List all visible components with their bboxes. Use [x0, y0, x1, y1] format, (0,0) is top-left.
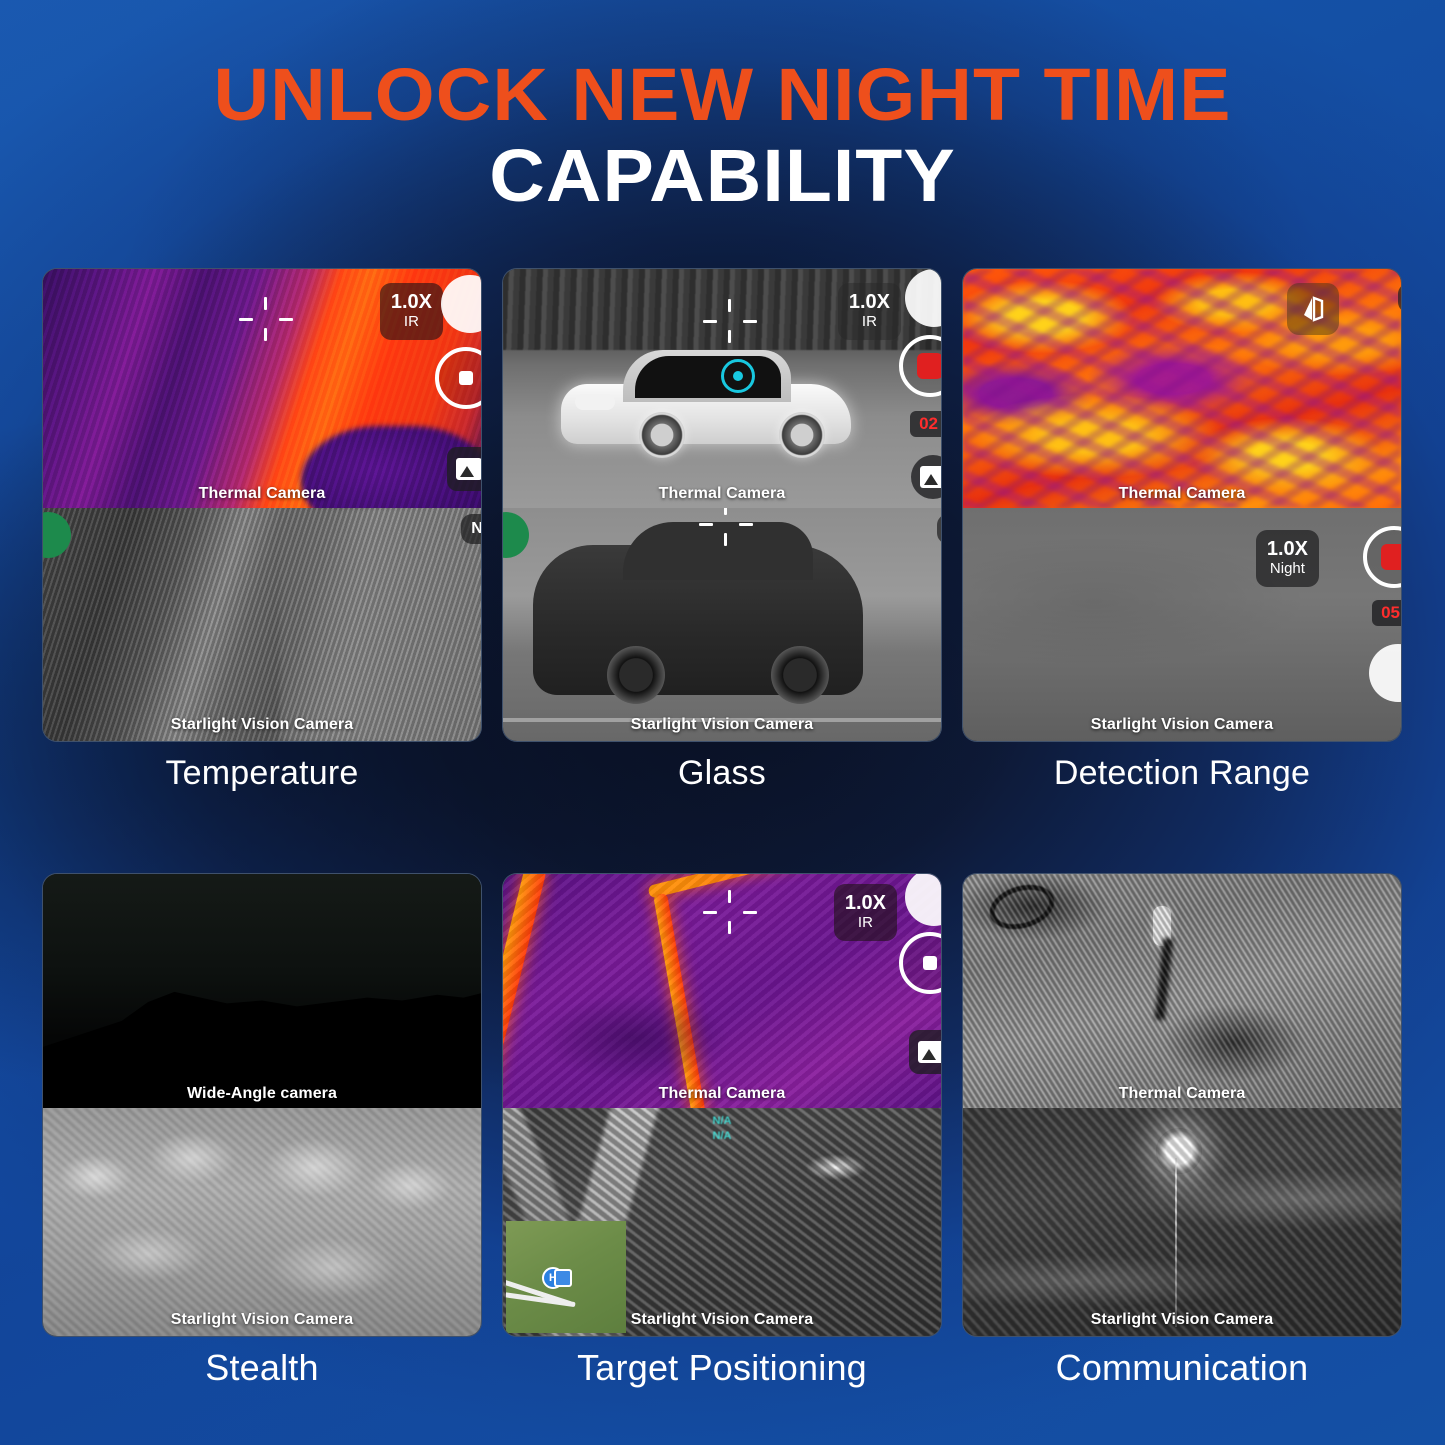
panel-label-starlight: Starlight Vision Camera [503, 716, 941, 734]
recording-timer: 05 [1372, 600, 1401, 626]
card-communication[interactable]: Thermal Camera Starlight Vision Camera [962, 873, 1402, 1337]
minimap[interactable]: H [506, 1221, 626, 1333]
map-marker-icon[interactable] [554, 1269, 572, 1287]
night-badge-label: Nig [471, 520, 481, 538]
headline-line-1: UNLOCK NEW NIGHT TIME [0, 58, 1445, 131]
panel-label-thermal: Thermal Camera [963, 485, 1401, 503]
card-target-positioning[interactable]: 1.0X IR Thermal Camera N/A N/A [502, 873, 942, 1337]
feature-grid: 1.0X IR Thermal Camera Nig Starlight Vis… [42, 268, 1403, 1389]
card-caption-communication: Communication [962, 1347, 1402, 1389]
palette-icon[interactable] [1287, 283, 1339, 335]
card-temperature[interactable]: 1.0X IR Thermal Camera Nig Starlight Vis… [42, 268, 482, 742]
reticle-icon [699, 508, 753, 546]
panel-label-wide-angle: Wide-Angle camera [43, 1085, 481, 1103]
zoom-level-label: 1.0X [1267, 538, 1308, 560]
feature-cell-target-positioning: 1.0X IR Thermal Camera N/A N/A [502, 873, 942, 1389]
headline-line-2: CAPABILITY [0, 139, 1445, 212]
target-lock-icon[interactable] [721, 359, 755, 393]
wide-angle-panel: Wide-Angle camera [43, 874, 481, 1108]
reticle-icon [239, 297, 293, 341]
card-caption-glass: Glass [502, 754, 942, 793]
zoom-level-label: 1.0X [845, 892, 886, 914]
card-caption-temperature: Temperature [42, 754, 482, 793]
starlight-image-communication [963, 1108, 1401, 1336]
telemetry-line-1: N/A [713, 1114, 732, 1129]
gallery-button[interactable] [447, 447, 481, 491]
feature-cell-temperature: 1.0X IR Thermal Camera Nig Starlight Vis… [42, 268, 482, 793]
panel-label-starlight: Starlight Vision Camera [963, 1311, 1401, 1329]
feature-cell-detection-range: 1 Thermal Camera 1.0X Night 05 Starlight… [962, 268, 1402, 793]
recording-timer: 02 [910, 411, 941, 437]
vehicle-thermal-signature [561, 350, 851, 458]
poster-root: UNLOCK NEW NIGHT TIME CAPABILITY 1.0X IR [0, 0, 1445, 1445]
feature-cell-stealth: Wide-Angle camera Starlight Vision Camer… [42, 873, 482, 1389]
zoom-badge[interactable]: 1.0X Night [1256, 530, 1319, 587]
card-stealth[interactable]: Wide-Angle camera Starlight Vision Camer… [42, 873, 482, 1337]
zoom-mode-label: IR [849, 314, 890, 331]
wide-angle-image-stealth [43, 874, 481, 1108]
card-caption-stealth: Stealth [42, 1347, 482, 1389]
zoom-level-label: 1.0X [849, 291, 890, 313]
starlight-image-detection-range [963, 508, 1401, 741]
zoom-badge[interactable]: 1.0X IR [380, 283, 443, 340]
card-caption-detection-range: Detection Range [962, 754, 1402, 793]
card-detection-range[interactable]: 1 Thermal Camera 1.0X Night 05 Starlight… [962, 268, 1402, 742]
zoom-mode-label: Night [1267, 561, 1308, 578]
starlight-panel: Nig Starlight Vision Camera [43, 508, 481, 741]
card-caption-target-positioning: Target Positioning [502, 1347, 942, 1389]
zoom-mode-label: IR [391, 314, 432, 331]
starlight-image-stealth [43, 1108, 481, 1336]
starlight-panel: N/A N/A H Starlight Vision Camera [503, 1108, 941, 1336]
panel-label-thermal: Thermal Camera [503, 1085, 941, 1103]
starlight-panel: Starlight Vision Camera [43, 1108, 481, 1336]
zoom-badge[interactable]: 1.0X IR [838, 283, 901, 340]
thermal-panel: Thermal Camera [963, 874, 1401, 1108]
panel-label-thermal: Thermal Camera [963, 1085, 1401, 1103]
feature-cell-communication: Thermal Camera Starlight Vision Camera C… [962, 873, 1402, 1389]
card-glass[interactable]: 1.0X IR 02 Thermal Camera [502, 268, 942, 742]
starlight-panel: Starlight Vision Camera [963, 1108, 1401, 1336]
gallery-button[interactable] [909, 1030, 941, 1074]
panel-label-starlight: Starlight Vision Camera [43, 1311, 481, 1329]
zoom-level-label: 1.0X [391, 291, 432, 313]
panel-label-thermal: Thermal Camera [43, 485, 481, 503]
feature-cell-glass: 1.0X IR 02 Thermal Camera [502, 268, 942, 793]
reticle-icon [703, 890, 757, 934]
thermal-panel: 1.0X IR Thermal Camera [43, 269, 481, 508]
thermal-panel: 1 Thermal Camera [963, 269, 1401, 508]
panel-label-starlight: Starlight Vision Camera [963, 716, 1401, 734]
telemetry-readout: N/A N/A [713, 1114, 732, 1144]
zoom-badge[interactable]: 1.0X IR [834, 884, 897, 941]
telemetry-line-2: N/A [713, 1129, 732, 1144]
night-badge[interactable]: Nig [461, 514, 481, 544]
zoom-mode-label: IR [845, 915, 886, 932]
thermal-image-communication [963, 874, 1401, 1108]
panel-label-starlight: Starlight Vision Camera [43, 716, 481, 734]
starlight-panel: N Starlight Vision Camera [503, 508, 941, 741]
night-badge[interactable]: N [937, 514, 941, 544]
panel-label-thermal: Thermal Camera [503, 485, 941, 503]
starlight-image-temperature [43, 508, 481, 741]
starlight-panel: 1.0X Night 05 Starlight Vision Camera [963, 508, 1401, 741]
thermal-panel: 1.0X IR 02 Thermal Camera [503, 269, 941, 508]
thermal-panel: 1.0X IR Thermal Camera [503, 874, 941, 1108]
reticle-icon [703, 299, 757, 343]
